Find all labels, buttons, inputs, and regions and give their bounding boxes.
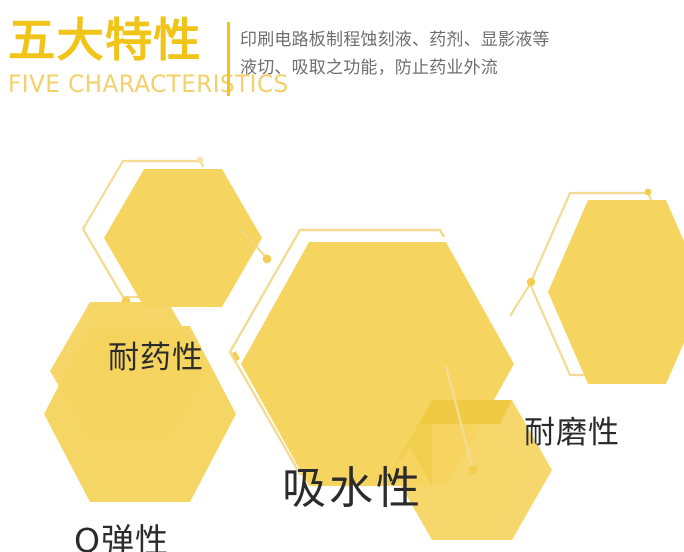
header-divider [227,22,230,96]
hexagon-diagram: 耐药性 Q弹性 吸水性 耐磨性 [0,126,684,552]
title-block: 五大特性 FIVE CHARACTERISTICS [8,14,223,114]
infographic-page: 五大特性 FIVE CHARACTERISTICS 印刷电路板制程蚀刻液、药剂、… [0,0,684,552]
connector-dot-blank-bottom [468,465,477,474]
header-description: 印刷电路板制程蚀刻液、药剂、显影液等 液切、吸取之功能，防止药业外流 [240,26,670,82]
page-title-chinese: 五大特性 [8,14,202,66]
description-line-2: 液切、吸取之功能，防止药业外流 [240,54,670,82]
hexagon-canvas [0,126,684,552]
connector-line-naimoxing [510,284,530,316]
connector-dot-naiyaoxing-right [263,255,271,263]
connector-dot-naimoxing [527,278,535,286]
description-line-1: 印刷电路板制程蚀刻液、药剂、显影液等 [240,26,670,54]
connector-dot-naiyaoxing-top [197,157,203,163]
hexagon-overlap-patch-bottom [420,400,512,424]
connector-dot-naimoxing-top [645,189,652,196]
page-header: 五大特性 FIVE CHARACTERISTICS 印刷电路板制程蚀刻液、药剂、… [0,0,684,130]
